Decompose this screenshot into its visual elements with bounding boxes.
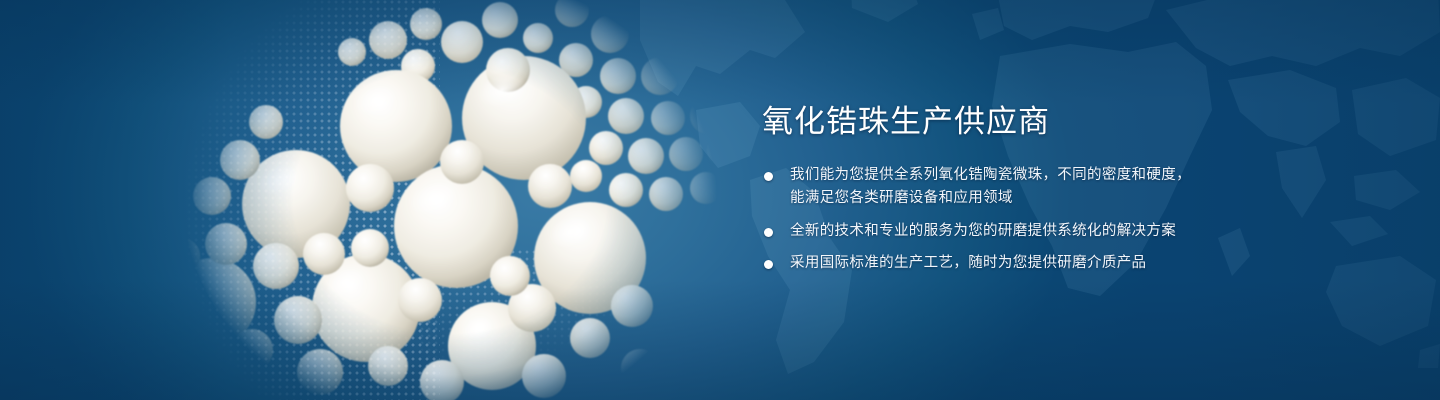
list-item: 全新的技术和专业的服务为您的研磨提供系统化的解决方案 <box>762 220 1232 243</box>
list-item-line: 能满足您各类研磨设备和应用领域 <box>790 187 1232 210</box>
bullet-dot-icon <box>764 172 773 181</box>
banner-copy: 氧化锆珠生产供应商 我们能为您提供全系列氧化锆陶瓷微珠，不同的密度和硬度， 能满… <box>762 104 1232 276</box>
list-item: 采用国际标准的生产工艺，随时为您提供研磨介质产品 <box>762 252 1232 275</box>
list-item-line: 采用国际标准的生产工艺，随时为您提供研磨介质产品 <box>790 252 1232 275</box>
page-title: 氧化锆珠生产供应商 <box>762 104 1232 140</box>
list-item-line: 全新的技术和专业的服务为您的研磨提供系统化的解决方案 <box>790 220 1232 243</box>
list-item: 我们能为您提供全系列氧化锆陶瓷微珠，不同的密度和硬度， 能满足您各类研磨设备和应… <box>762 164 1232 211</box>
hero-banner: 氧化锆珠生产供应商 我们能为您提供全系列氧化锆陶瓷微珠，不同的密度和硬度， 能满… <box>0 0 1440 400</box>
bullet-dot-icon <box>764 228 773 237</box>
bullet-dot-icon <box>764 260 773 269</box>
list-item-line: 我们能为您提供全系列氧化锆陶瓷微珠，不同的密度和硬度， <box>790 164 1232 187</box>
feature-list: 我们能为您提供全系列氧化锆陶瓷微珠，不同的密度和硬度， 能满足您各类研磨设备和应… <box>762 164 1232 276</box>
